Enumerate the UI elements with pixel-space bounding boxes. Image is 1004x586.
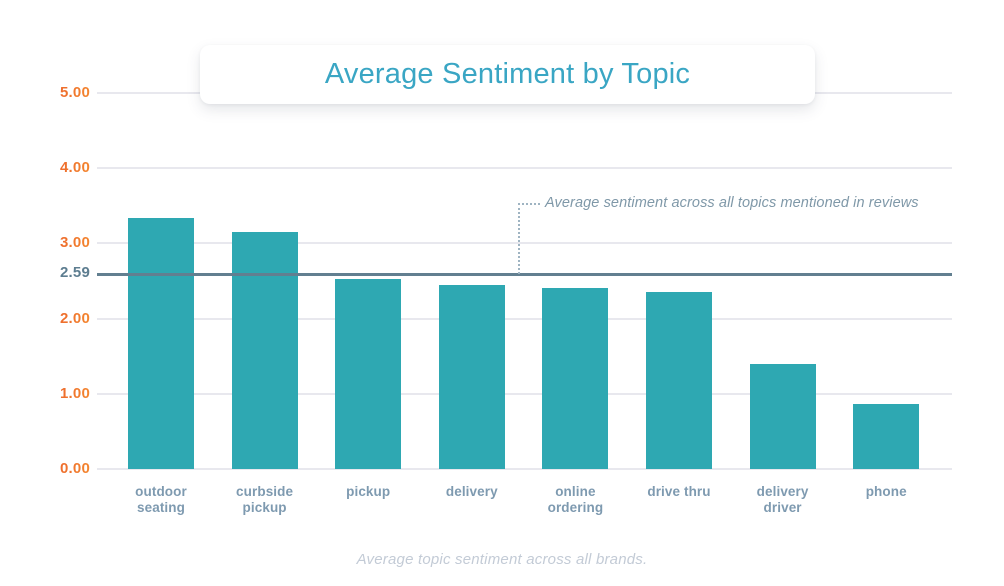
x-axis-tick-label-line: delivery xyxy=(417,484,527,500)
x-axis-tick-label-line: pickup xyxy=(313,484,423,500)
bar[interactable] xyxy=(439,285,505,469)
annotation-leader-line xyxy=(518,203,520,274)
x-axis-tick-label-line: pickup xyxy=(210,500,320,516)
bar[interactable] xyxy=(853,404,919,469)
bar[interactable] xyxy=(335,279,401,469)
x-axis-tick-label: curbsidepickup xyxy=(210,484,320,516)
bar[interactable] xyxy=(646,292,712,469)
x-axis-tick-label: outdoorseating xyxy=(106,484,216,516)
reference-line-label-wrap: 2.59 xyxy=(24,264,90,282)
chart-title-card: Average Sentiment by Topic xyxy=(200,45,815,104)
x-axis-tick-label-line: drive thru xyxy=(624,484,734,500)
x-axis-tick-label: delivery xyxy=(417,484,527,500)
chart-caption: Average topic sentiment across all brand… xyxy=(0,551,1004,568)
x-axis-tick-label: deliverydriver xyxy=(728,484,838,516)
x-axis-tick-label: pickup xyxy=(313,484,423,500)
bar[interactable] xyxy=(542,288,608,469)
x-axis-tick-label: onlineordering xyxy=(520,484,630,516)
bar[interactable] xyxy=(750,364,816,469)
x-axis-tick-label-line: driver xyxy=(728,500,838,516)
x-axis-tick-label-line: seating xyxy=(106,500,216,516)
x-axis-tick-label: phone xyxy=(831,484,941,500)
x-axis-tick-label: drive thru xyxy=(624,484,734,500)
annotation-leader-tick xyxy=(518,203,540,205)
x-axis-tick-label-line: delivery xyxy=(728,484,838,500)
x-axis-tick-label-line: phone xyxy=(831,484,941,500)
sentiment-bar-chart: 0.001.002.003.004.005.00 2.59 Average se… xyxy=(0,0,1004,586)
page-title: Average Sentiment by Topic xyxy=(325,58,690,91)
bar[interactable] xyxy=(128,218,194,469)
x-axis-tick-label-line: outdoor xyxy=(106,484,216,500)
x-axis-tick-label-line: ordering xyxy=(520,500,630,516)
x-axis-tick-label-line: online xyxy=(520,484,630,500)
reference-line xyxy=(97,273,952,276)
reference-line-label: 2.59 xyxy=(34,264,90,281)
x-axis-tick-label-line: curbside xyxy=(210,484,320,500)
annotation-text: Average sentiment across all topics ment… xyxy=(545,195,919,211)
bar[interactable] xyxy=(232,232,298,469)
